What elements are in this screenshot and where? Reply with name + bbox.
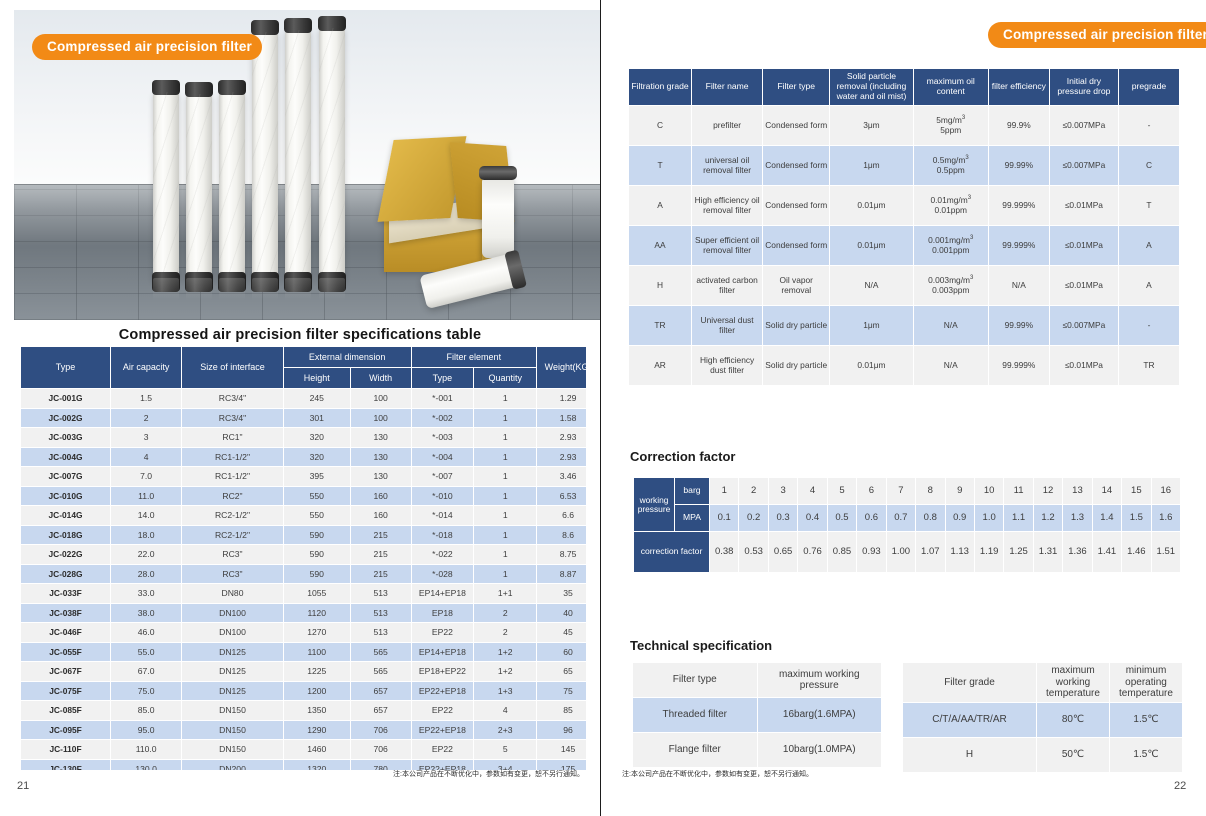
table-cell: 590 <box>283 525 350 545</box>
cell-solid-particle-removal: 0.01μm <box>830 345 913 385</box>
th-min-operating-temp: minimum operating temperature <box>1110 663 1183 703</box>
table-cell: 3 <box>111 428 182 448</box>
unit-barg: barg <box>675 478 710 505</box>
table-cell: 2.93 <box>537 428 586 448</box>
table-cell: JC-004G <box>21 447 111 467</box>
cf-factor-13: 1.41 <box>1092 532 1121 573</box>
tr-grade-h-max-temp: 50℃ <box>1037 737 1110 772</box>
cf-barg-7: 8 <box>916 478 945 505</box>
cell-filter-name: Super efficient oil removal filter <box>692 225 763 265</box>
cf-barg-5: 6 <box>857 478 886 505</box>
table-cell: 5 <box>474 740 537 760</box>
cf-factor-10: 1.25 <box>1004 532 1033 573</box>
correction-barg-row: working pressure barg 123456789101112131… <box>634 478 1181 505</box>
table-cell: 1 <box>474 447 537 467</box>
cf-factor-8: 1.13 <box>945 532 974 573</box>
table-cell: 8.6 <box>537 525 586 545</box>
correction-factor-title: Correction factor <box>630 449 735 464</box>
table-cell: 75 <box>537 681 586 701</box>
table-row: CprefilterCondensed form3μm5mg/m35ppm99.… <box>629 105 1180 145</box>
table-cell: RC1-1/2" <box>182 467 284 487</box>
table-cell: JC-055F <box>21 642 111 662</box>
cell-initial-dry-pressure-drop: ≤0.007MPa <box>1049 305 1118 345</box>
table-cell: JC-001G <box>21 389 111 409</box>
table-cell: *-004 <box>411 447 474 467</box>
cell-initial-dry-pressure-drop: ≤0.007MPa <box>1049 105 1118 145</box>
table-row: JC-014G14.0RC2-1/2"550160*-01416.6 <box>21 506 587 526</box>
cell-initial-dry-pressure-drop: ≤0.01MPa <box>1049 265 1118 305</box>
th-filter-grade: Filter grade <box>903 663 1037 703</box>
filter-cartridge <box>252 32 278 282</box>
cf-factor-12: 1.36 <box>1063 532 1092 573</box>
cell-filter-name: High efficiency dust filter <box>692 345 763 385</box>
filtration-grade-table-container: Filtration gradeFilter nameFilter typeSo… <box>628 68 1180 386</box>
correction-factor-table-container: working pressure barg 123456789101112131… <box>633 477 1181 573</box>
pressure-spec-table: Filter type maximum working pressure Thr… <box>632 662 882 768</box>
cf-barg-14: 15 <box>1122 478 1151 505</box>
cell-filtration-grade: T <box>629 145 692 185</box>
table-row: JC-075F75.0DN1251200657EP22+EP181+375 <box>21 681 587 701</box>
table-cell: 1270 <box>283 623 350 643</box>
spec-table-body: JC-001G1.5RC3/4"245100*-00111.29JC-002G2… <box>21 389 587 771</box>
table-cell: 320 <box>283 428 350 448</box>
cf-barg-8: 9 <box>945 478 974 505</box>
filtration-grade-table: Filtration gradeFilter nameFilter typeSo… <box>628 68 1180 386</box>
cell-max-oil-content: 0.01mg/m30.01ppm <box>913 185 988 225</box>
cf-factor-0: 0.38 <box>710 532 739 573</box>
grade-col-3: Solid particle removal (including water … <box>830 69 913 106</box>
table-cell: 1.29 <box>537 389 586 409</box>
pressure-spec-table-container: Filter type maximum working pressure Thr… <box>632 662 882 768</box>
cell-solid-particle-removal: 1μm <box>830 305 913 345</box>
cell-filter-efficiency: 99.9% <box>988 105 1049 145</box>
table-row: Filter type maximum working pressure <box>633 663 882 698</box>
table-cell: 6.6 <box>537 506 586 526</box>
table-row: JC-095F95.0DN1501290706EP22+EP182+396 <box>21 720 587 740</box>
cf-mpa-10: 1.1 <box>1004 505 1033 532</box>
table-row: AHigh efficiency oil removal filterConde… <box>629 185 1180 225</box>
table-row: Filter grade maximum working temperature… <box>903 663 1183 703</box>
grade-col-6: Initial dry pressure drop <box>1049 69 1118 106</box>
table-cell: 1 <box>474 408 537 428</box>
table-cell: 513 <box>350 623 411 643</box>
cf-mpa-13: 1.4 <box>1092 505 1121 532</box>
table-cell: 550 <box>283 506 350 526</box>
table-row: JC-004G4RC1-1/2"320130*-00412.93 <box>21 447 587 467</box>
table-row: JC-038F38.0DN1001120513EP18240 <box>21 603 587 623</box>
cf-factor-5: 0.93 <box>857 532 886 573</box>
table-cell: JC-095F <box>21 720 111 740</box>
table-cell: EP14+EP18 <box>411 642 474 662</box>
cf-barg-10: 11 <box>1004 478 1033 505</box>
table-row: Tuniversal oil removal filterCondensed f… <box>629 145 1180 185</box>
table-cell: DN125 <box>182 662 284 682</box>
table-row: JC-046F46.0DN1001270513EP22245 <box>21 623 587 643</box>
left-footnote: 注:本公司产品在不断优化中，参数如有变更，恕不另行通知。 <box>393 769 584 779</box>
table-cell: RC1" <box>182 428 284 448</box>
table-cell: 130 <box>350 467 411 487</box>
technical-specification-title: Technical specification <box>630 638 772 653</box>
ph-filter-type: Filter type <box>633 663 758 698</box>
cf-barg-13: 14 <box>1092 478 1121 505</box>
table-cell: 706 <box>350 740 411 760</box>
table-cell: 85.0 <box>111 701 182 721</box>
cell-filter-efficiency: N/A <box>988 265 1049 305</box>
col-quantity: Quantity <box>474 368 537 389</box>
cell-filter-name: activated carbon filter <box>692 265 763 305</box>
table-cell: 40 <box>537 603 586 623</box>
table-cell: 550 <box>283 486 350 506</box>
table-cell: 8.75 <box>537 545 586 565</box>
table-cell: DN100 <box>182 603 284 623</box>
cf-barg-3: 4 <box>798 478 827 505</box>
grade-col-4: maximum oil content <box>913 69 988 106</box>
table-cell: 110.0 <box>111 740 182 760</box>
col-element-type: Type <box>411 368 474 389</box>
grade-col-7: pregrade <box>1118 69 1179 106</box>
table-cell: *-014 <box>411 506 474 526</box>
cf-barg-12: 13 <box>1063 478 1092 505</box>
cell-initial-dry-pressure-drop: ≤0.007MPa <box>1049 145 1118 185</box>
table-cell: EP22+EP18 <box>411 681 474 701</box>
right-footnote: 注:本公司产品在不断优化中，参数如有变更，恕不另行通知。 <box>622 769 813 779</box>
correction-mpa-row: MPA 0.10.20.30.40.50.60.70.80.91.01.11.2… <box>634 505 1181 532</box>
cell-max-oil-content: N/A <box>913 345 988 385</box>
table-cell: 590 <box>283 545 350 565</box>
cf-factor-15: 1.51 <box>1151 532 1180 573</box>
table-cell: 565 <box>350 662 411 682</box>
cell-filtration-grade: A <box>629 185 692 225</box>
table-cell: 301 <box>283 408 350 428</box>
tr-grades-max-temp: 80℃ <box>1037 702 1110 737</box>
table-cell: RC3/4" <box>182 408 284 428</box>
table-cell: RC3/4" <box>182 389 284 409</box>
table-cell: 1+1 <box>474 584 537 604</box>
correction-factor-table: working pressure barg 123456789101112131… <box>633 477 1181 573</box>
temperature-spec-table: Filter grade maximum working temperature… <box>902 662 1183 773</box>
table-cell: DN200 <box>182 759 284 770</box>
table-cell: JC-085F <box>21 701 111 721</box>
table-cell: 145 <box>537 740 586 760</box>
cell-filter-type: Solid dry particle <box>763 305 830 345</box>
table-row: ARHigh efficiency dust filterSolid dry p… <box>629 345 1180 385</box>
table-cell: DN150 <box>182 701 284 721</box>
table-cell: EP22+EP18 <box>411 720 474 740</box>
left-table-title: Compressed air precision filter specific… <box>14 327 586 343</box>
table-cell: 160 <box>350 486 411 506</box>
table-cell: 1320 <box>283 759 350 770</box>
cf-mpa-15: 1.6 <box>1151 505 1180 532</box>
tr-grades: C/T/A/AA/TR/AR <box>903 702 1037 737</box>
cf-barg-11: 12 <box>1033 478 1062 505</box>
table-row: JC-001G1.5RC3/4"245100*-00111.29 <box>21 389 587 409</box>
cell-max-oil-content: 0.5mg/m30.5ppm <box>913 145 988 185</box>
table-cell: 657 <box>350 681 411 701</box>
cell-max-oil-content: 0.003mg/m30.003ppm <box>913 265 988 305</box>
table-row: JC-085F85.0DN1501350657EP22485 <box>21 701 587 721</box>
table-cell: *-007 <box>411 467 474 487</box>
grade-col-5: filter efficiency <box>988 69 1049 106</box>
cell-filter-type: Condensed form <box>763 105 830 145</box>
table-cell: 46.0 <box>111 623 182 643</box>
temperature-spec-table-container: Filter grade maximum working temperature… <box>902 662 1182 773</box>
cf-mpa-3: 0.4 <box>798 505 827 532</box>
filtration-grade-header-row: Filtration gradeFilter nameFilter typeSo… <box>629 69 1180 106</box>
table-cell: JC-007G <box>21 467 111 487</box>
cf-factor-4: 0.85 <box>827 532 856 573</box>
col-air-capacity: Air capacity <box>111 347 182 389</box>
table-cell: EP22 <box>411 623 474 643</box>
table-cell: 1460 <box>283 740 350 760</box>
pr-threaded-filter: Threaded filter <box>633 698 758 733</box>
left-page: Compressed air precision filter Compress… <box>0 0 601 816</box>
table-cell: *-018 <box>411 525 474 545</box>
cf-barg-4: 5 <box>827 478 856 505</box>
table-cell: 215 <box>350 564 411 584</box>
table-cell: 245 <box>283 389 350 409</box>
cf-factor-2: 0.65 <box>768 532 797 573</box>
table-row: JC-110F110.0DN1501460706EP225145 <box>21 740 587 760</box>
cf-mpa-14: 1.5 <box>1122 505 1151 532</box>
cf-mpa-4: 0.5 <box>827 505 856 532</box>
badge-compressed-air-precision-filter-right: Compressed air precision filter <box>988 22 1206 48</box>
cell-initial-dry-pressure-drop: ≤0.01MPa <box>1049 225 1118 265</box>
table-cell: 75.0 <box>111 681 182 701</box>
table-cell: 60 <box>537 642 586 662</box>
table-cell: EP14+EP18 <box>411 584 474 604</box>
cell-pregrade: T <box>1118 185 1179 225</box>
table-cell: 65 <box>537 662 586 682</box>
table-row: JC-067F67.0DN1251225565EP18+EP221+265 <box>21 662 587 682</box>
grade-col-0: Filtration grade <box>629 69 692 106</box>
table-cell: *-002 <box>411 408 474 428</box>
cf-barg-0: 1 <box>710 478 739 505</box>
table-cell: *-010 <box>411 486 474 506</box>
cell-filter-type: Condensed form <box>763 185 830 225</box>
table-cell: 1350 <box>283 701 350 721</box>
table-cell: 513 <box>350 603 411 623</box>
cartridge-reflection <box>186 278 212 300</box>
table-cell: 1 <box>474 428 537 448</box>
cf-mpa-1: 0.2 <box>739 505 768 532</box>
cf-mpa-7: 0.8 <box>916 505 945 532</box>
table-cell: 513 <box>350 584 411 604</box>
table-cell: 130.0 <box>111 759 182 770</box>
table-cell: EP18+EP22 <box>411 662 474 682</box>
table-cell: 7.0 <box>111 467 182 487</box>
cell-filter-name: prefilter <box>692 105 763 145</box>
table-cell: *-028 <box>411 564 474 584</box>
table-row: Threaded filter 16barg(1.6MPA) <box>633 698 882 733</box>
cell-initial-dry-pressure-drop: ≤0.01MPa <box>1049 345 1118 385</box>
table-cell: JC-018G <box>21 525 111 545</box>
table-cell: RC2-1/2" <box>182 506 284 526</box>
cell-filter-name: Universal dust filter <box>692 305 763 345</box>
cell-max-oil-content: N/A <box>913 305 988 345</box>
cell-filtration-grade: AA <box>629 225 692 265</box>
table-cell: 1+2 <box>474 662 537 682</box>
cf-factor-14: 1.46 <box>1122 532 1151 573</box>
table-cell: RC3" <box>182 545 284 565</box>
table-cell: 1 <box>474 389 537 409</box>
badge-compressed-air-precision-filter-left: Compressed air precision filter <box>32 34 262 60</box>
table-cell: 130 <box>350 428 411 448</box>
ph-max-working-pressure: maximum working pressure <box>757 663 882 698</box>
table-cell: 320 <box>283 447 350 467</box>
table-cell: 100 <box>350 389 411 409</box>
filter-cartridge <box>153 92 179 282</box>
table-row: JC-033F33.0DN801055513EP14+EP181+135 <box>21 584 587 604</box>
table-row: JC-002G2RC3/4"301100*-00211.58 <box>21 408 587 428</box>
table-cell: 18.0 <box>111 525 182 545</box>
table-cell: 14.0 <box>111 506 182 526</box>
table-cell: 1225 <box>283 662 350 682</box>
table-cell: 2 <box>111 408 182 428</box>
col-size-of-interface: Size of interface <box>182 347 284 389</box>
grade-col-1: Filter name <box>692 69 763 106</box>
table-row: JC-022G22.0RC3"590215*-02218.75 <box>21 545 587 565</box>
table-cell: JC-002G <box>21 408 111 428</box>
filter-cartridge <box>319 28 345 282</box>
table-cell: 2 <box>474 603 537 623</box>
tr-grade-h: H <box>903 737 1037 772</box>
table-cell: JC-046F <box>21 623 111 643</box>
cell-pregrade: A <box>1118 265 1179 305</box>
table-cell: 2+3 <box>474 720 537 740</box>
cf-factor-1: 0.53 <box>739 532 768 573</box>
table-cell: DN80 <box>182 584 284 604</box>
correction-factor-row: correction factor 0.380.530.650.760.850.… <box>634 532 1181 573</box>
table-cell: 1.5 <box>111 389 182 409</box>
cell-max-oil-content: 5mg/m35ppm <box>913 105 988 145</box>
col-height: Height <box>283 368 350 389</box>
table-cell: 1120 <box>283 603 350 623</box>
spec-table: Type Air capacity Size of interface Exte… <box>20 346 586 770</box>
table-row: AASuper efficient oil removal filterCond… <box>629 225 1180 265</box>
table-cell: EP22 <box>411 701 474 721</box>
table-cell: 1290 <box>283 720 350 740</box>
cell-pregrade: C <box>1118 145 1179 185</box>
table-cell: JC-067F <box>21 662 111 682</box>
table-cell: RC1-1/2" <box>182 447 284 467</box>
table-row: JC-055F55.0DN1251100565EP14+EP181+260 <box>21 642 587 662</box>
cell-solid-particle-removal: 3μm <box>830 105 913 145</box>
filter-cartridge <box>186 94 212 282</box>
table-cell: 1 <box>474 545 537 565</box>
table-cell: DN150 <box>182 740 284 760</box>
pr-flange-filter-value: 10barg(1.0MPA) <box>757 733 882 768</box>
cell-filter-name: universal oil removal filter <box>692 145 763 185</box>
table-cell: JC-033F <box>21 584 111 604</box>
table-cell: 4 <box>474 701 537 721</box>
table-cell: 45 <box>537 623 586 643</box>
table-cell: JC-130F <box>21 759 111 770</box>
table-cell: JC-014G <box>21 506 111 526</box>
right-page-number: 22 <box>1174 780 1186 792</box>
table-cell: 33.0 <box>111 584 182 604</box>
table-cell: DN125 <box>182 681 284 701</box>
table-cell: 85 <box>537 701 586 721</box>
cf-barg-6: 7 <box>886 478 915 505</box>
cell-filter-type: Condensed form <box>763 145 830 185</box>
table-cell: 657 <box>350 701 411 721</box>
cartridge-reflection <box>285 278 311 300</box>
table-cell: DN100 <box>182 623 284 643</box>
cartridge-reflection <box>319 278 345 300</box>
table-cell: *-022 <box>411 545 474 565</box>
cell-pregrade: - <box>1118 105 1179 145</box>
right-page: Compressed air precision filter Filtrati… <box>601 0 1206 816</box>
cf-factor-7: 1.07 <box>916 532 945 573</box>
cell-filter-type: Solid dry particle <box>763 345 830 385</box>
table-cell: 1055 <box>283 584 350 604</box>
pr-flange-filter: Flange filter <box>633 733 758 768</box>
cell-filter-efficiency: 99.99% <box>988 145 1049 185</box>
cf-barg-15: 16 <box>1151 478 1180 505</box>
left-page-number: 21 <box>17 780 29 792</box>
cell-filter-name: High efficiency oil removal filter <box>692 185 763 225</box>
cf-barg-1: 2 <box>739 478 768 505</box>
grade-col-2: Filter type <box>763 69 830 106</box>
cell-max-oil-content: 0.001mg/m30.001ppm <box>913 225 988 265</box>
table-cell: 215 <box>350 525 411 545</box>
cell-filtration-grade: AR <box>629 345 692 385</box>
left-spec-table-container: Type Air capacity Size of interface Exte… <box>20 346 586 770</box>
cell-solid-particle-removal: 0.01μm <box>830 225 913 265</box>
table-cell: JC-028G <box>21 564 111 584</box>
cell-filter-efficiency: 99.99% <box>988 305 1049 345</box>
filter-cartridge <box>219 92 245 282</box>
cell-filtration-grade: H <box>629 265 692 305</box>
table-row: JC-007G7.0RC1-1/2"395130*-00713.46 <box>21 467 587 487</box>
working-pressure-label: working pressure <box>634 478 675 532</box>
cell-filter-type: Condensed form <box>763 225 830 265</box>
table-cell: 4 <box>111 447 182 467</box>
col-external-dimension: External dimension <box>283 347 411 368</box>
table-cell: 1 <box>474 525 537 545</box>
table-cell: 96 <box>537 720 586 740</box>
table-cell: 38.0 <box>111 603 182 623</box>
th-max-working-temp: maximum working temperature <box>1037 663 1110 703</box>
cf-barg-9: 10 <box>974 478 1003 505</box>
cell-filtration-grade: TR <box>629 305 692 345</box>
table-cell: JC-110F <box>21 740 111 760</box>
cf-factor-11: 1.31 <box>1033 532 1062 573</box>
cell-solid-particle-removal: 1μm <box>830 145 913 185</box>
table-cell: 22.0 <box>111 545 182 565</box>
table-row: Hactivated carbon filterOil vapor remova… <box>629 265 1180 305</box>
cell-solid-particle-removal: 0.01μm <box>830 185 913 225</box>
table-cell: 395 <box>283 467 350 487</box>
table-cell: DN125 <box>182 642 284 662</box>
cf-factor-6: 1.00 <box>886 532 915 573</box>
pr-threaded-filter-value: 16barg(1.6MPA) <box>757 698 882 733</box>
cell-filter-efficiency: 99.999% <box>988 225 1049 265</box>
cf-factor-9: 1.19 <box>974 532 1003 573</box>
cf-factor-3: 0.76 <box>798 532 827 573</box>
table-cell: 28.0 <box>111 564 182 584</box>
table-row: JC-010G11.0RC2"550160*-01016.53 <box>21 486 587 506</box>
col-width: Width <box>350 368 411 389</box>
cell-filter-efficiency: 99.999% <box>988 185 1049 225</box>
cf-mpa-12: 1.3 <box>1063 505 1092 532</box>
table-cell: 1100 <box>283 642 350 662</box>
table-cell: 215 <box>350 545 411 565</box>
table-cell: JC-075F <box>21 681 111 701</box>
table-cell: 8.87 <box>537 564 586 584</box>
cell-pregrade: A <box>1118 225 1179 265</box>
table-cell: 1.58 <box>537 408 586 428</box>
